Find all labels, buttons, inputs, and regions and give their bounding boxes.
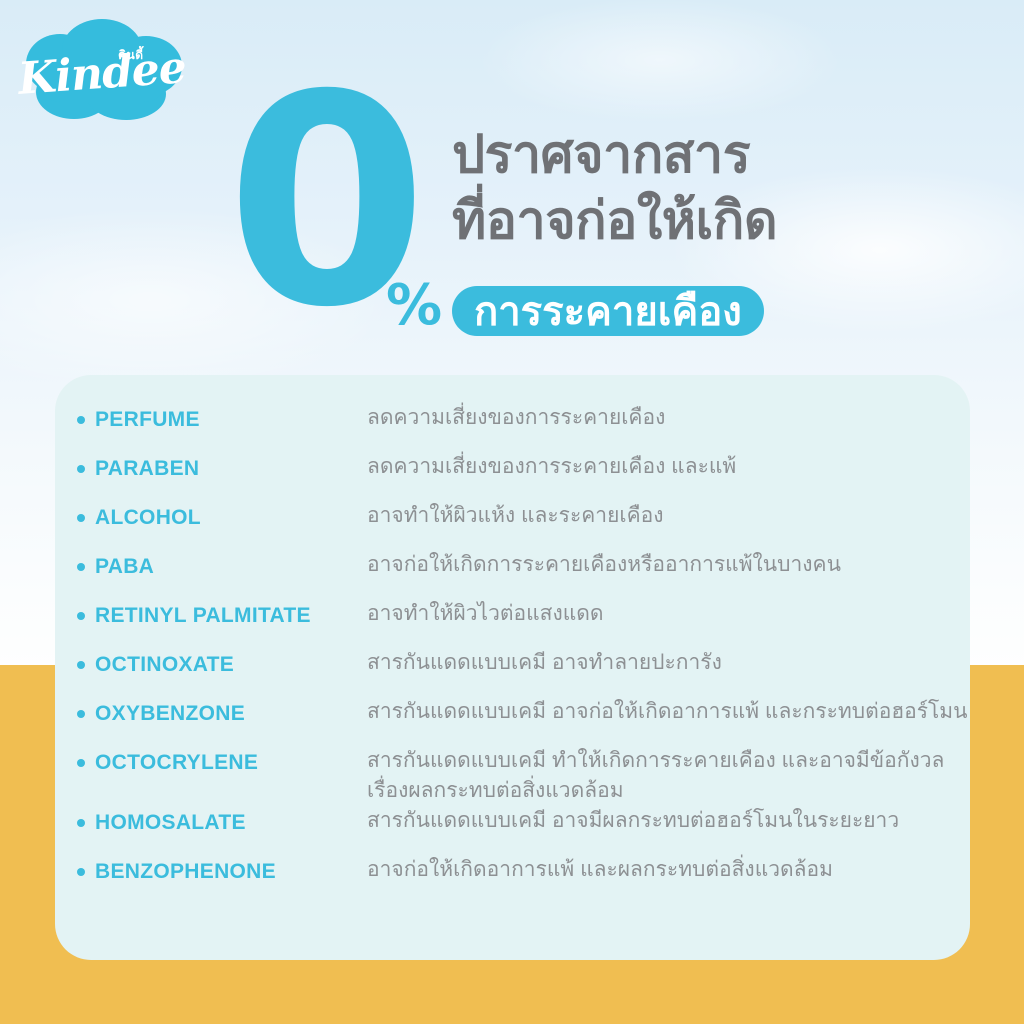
list-item: PERFUMEลดความเสี่ยงของการระคายเคือง — [55, 403, 970, 452]
ingredient-description: อาจก่อให้เกิดอาการแพ้ และผลกระทบต่อสิ่งแ… — [367, 855, 970, 885]
description-line-1: ลดความเสี่ยงของการระคายเคือง และแพ้ — [367, 455, 736, 478]
ingredient-description: อาจก่อให้เกิดการระคายเคืองหรืออาการแพ้ใน… — [367, 550, 970, 580]
ingredient-description: สารกันแดดแบบเคมี อาจทำลายปะการัง — [367, 648, 970, 678]
description-line-1: อาจก่อให้เกิดอาการแพ้ และผลกระทบต่อสิ่งแ… — [367, 858, 833, 881]
ingredient-label-group: ALCOHOL — [77, 501, 367, 533]
ingredient-description: ลดความเสี่ยงของการระคายเคือง และแพ้ — [367, 452, 970, 482]
list-item: OXYBENZONEสารกันแดดแบบเคมี อาจก่อให้เกิด… — [55, 697, 970, 746]
ingredient-label-group: RETINYL PALMITATE — [77, 599, 367, 631]
description-line-1: สารกันแดดแบบเคมี อาจก่อให้เกิดอาการแพ้ แ… — [367, 700, 968, 723]
description-line-1: ลดความเสี่ยงของการระคายเคือง — [367, 406, 665, 429]
description-line-1: อาจทำให้ผิวแห้ง และระคายเคือง — [367, 504, 663, 527]
ingredient-label-group: OCTOCRYLENE — [77, 746, 367, 778]
bullet-dot-icon — [77, 416, 85, 424]
list-item: OCTINOXATEสารกันแดดแบบเคมี อาจทำลายปะการ… — [55, 648, 970, 697]
description-line-1: อาจทำให้ผิวไวต่อแสงแดด — [367, 602, 604, 625]
ingredient-label-group: HOMOSALATE — [77, 806, 367, 838]
percent-symbol: % — [386, 278, 442, 334]
ingredient-name: PARABEN — [95, 454, 199, 484]
ingredient-name: HOMOSALATE — [95, 808, 246, 838]
ingredient-name: OCTOCRYLENE — [95, 748, 258, 778]
description-line-1: สารกันแดดแบบเคมี อาจทำลายปะการัง — [367, 651, 722, 674]
bullet-dot-icon — [77, 612, 85, 620]
ingredient-label-group: OXYBENZONE — [77, 697, 367, 729]
ingredient-description: ลดความเสี่ยงของการระคายเคือง — [367, 403, 970, 433]
ingredient-name: ALCOHOL — [95, 503, 201, 533]
headline-line-1: ปราศจากสาร — [452, 126, 750, 184]
bullet-dot-icon — [77, 868, 85, 876]
list-item: ALCOHOLอาจทำให้ผิวแห้ง และระคายเคือง — [55, 501, 970, 550]
description-line-1: สารกันแดดแบบเคมี ทำให้เกิดการระคายเคือง … — [367, 749, 944, 772]
ingredient-name: OXYBENZONE — [95, 699, 245, 729]
ingredient-label-group: OCTINOXATE — [77, 648, 367, 680]
ingredient-description: อาจทำให้ผิวไวต่อแสงแดด — [367, 599, 970, 629]
list-item: PABAอาจก่อให้เกิดการระคายเคืองหรืออาการแ… — [55, 550, 970, 599]
hero-section: 0 % ปราศจากสาร ที่อาจก่อให้เกิด การระคาย… — [0, 0, 1024, 370]
ingredient-card: PERFUMEลดความเสี่ยงของการระคายเคืองPARAB… — [55, 375, 970, 960]
list-item: BENZOPHENONEอาจก่อให้เกิดอาการแพ้ และผลก… — [55, 855, 970, 904]
bullet-dot-icon — [77, 514, 85, 522]
headline-line-2: ที่อาจก่อให้เกิด — [452, 192, 777, 250]
description-line-1: สารกันแดดแบบเคมี อาจมีผลกระทบต่อฮอร์โมนใ… — [367, 809, 899, 832]
ingredient-description: สารกันแดดแบบเคมี อาจก่อให้เกิดอาการแพ้ แ… — [367, 697, 970, 727]
bullet-dot-icon — [77, 819, 85, 827]
ingredient-list: PERFUMEลดความเสี่ยงของการระคายเคืองPARAB… — [55, 375, 970, 904]
bullet-dot-icon — [77, 563, 85, 571]
ingredient-label-group: BENZOPHENONE — [77, 855, 367, 887]
ingredient-name: RETINYL PALMITATE — [95, 601, 311, 631]
description-line-1: อาจก่อให้เกิดการระคายเคืองหรืออาการแพ้ใน… — [367, 553, 841, 576]
ingredient-name: OCTINOXATE — [95, 650, 234, 680]
list-item: RETINYL PALMITATEอาจทำให้ผิวไวต่อแสงแดด — [55, 599, 970, 648]
ingredient-name: PERFUME — [95, 405, 200, 435]
bullet-dot-icon — [77, 759, 85, 767]
ingredient-description: อาจทำให้ผิวแห้ง และระคายเคือง — [367, 501, 970, 531]
ingredient-label-group: PERFUME — [77, 403, 367, 435]
ingredient-label-group: PARABEN — [77, 452, 367, 484]
bullet-dot-icon — [77, 710, 85, 718]
ingredient-description: สารกันแดดแบบเคมี อาจมีผลกระทบต่อฮอร์โมนใ… — [367, 806, 970, 836]
ingredient-label-group: PABA — [77, 550, 367, 582]
list-item: HOMOSALATEสารกันแดดแบบเคมี อาจมีผลกระทบต… — [55, 806, 970, 855]
list-item: PARABENลดความเสี่ยงของการระคายเคือง และแ… — [55, 452, 970, 501]
bullet-dot-icon — [77, 465, 85, 473]
ingredient-name: BENZOPHENONE — [95, 857, 276, 887]
ingredient-description: สารกันแดดแบบเคมี ทำให้เกิดการระคายเคือง … — [367, 746, 970, 806]
ingredient-name: PABA — [95, 552, 154, 582]
bullet-dot-icon — [77, 661, 85, 669]
irritation-pill-label: การระคายเคือง — [452, 286, 764, 336]
description-line-2: เรื่องผลกระทบต่อสิ่งแวดล้อม — [367, 776, 970, 806]
list-item: OCTOCRYLENEสารกันแดดแบบเคมี ทำให้เกิดการ… — [55, 746, 970, 806]
